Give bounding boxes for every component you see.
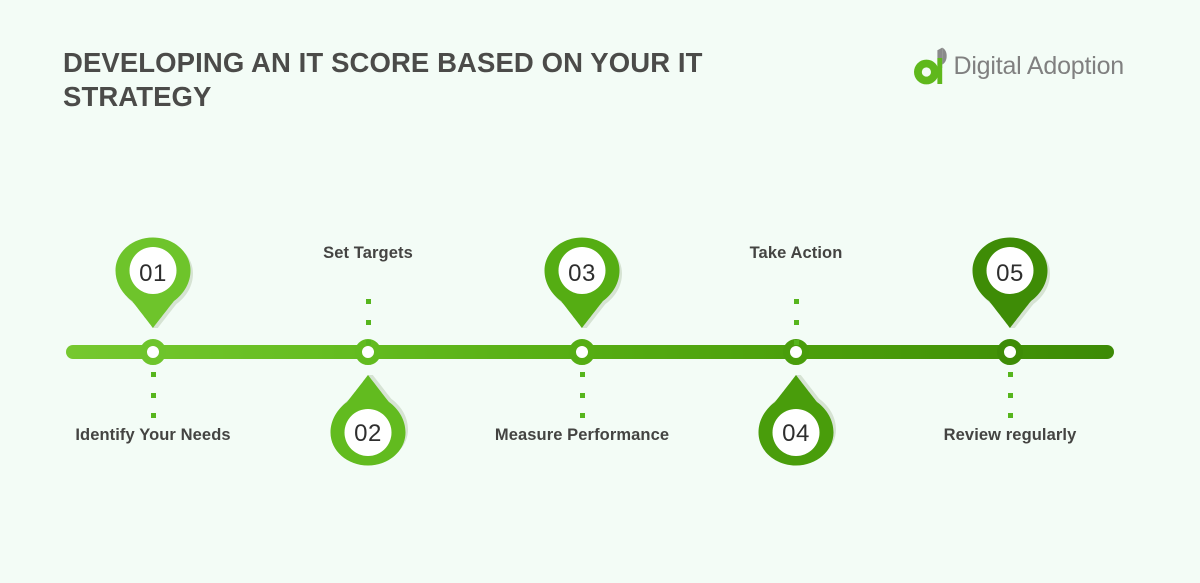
- connector-dot: [151, 372, 156, 377]
- dotted-connector-03: [580, 372, 585, 418]
- connector-dot: [794, 320, 799, 325]
- step-label-05: Review regularly: [944, 426, 1077, 445]
- step-pin-05[interactable]: 05: [969, 234, 1051, 328]
- dotted-connector-04: [794, 299, 799, 345]
- connector-dot: [1008, 372, 1013, 377]
- connector-dot: [794, 340, 799, 345]
- timeline-node-05[interactable]: [997, 339, 1023, 365]
- dotted-connector-02: [366, 299, 371, 345]
- timeline-node-03[interactable]: [569, 339, 595, 365]
- step-number-05: 05: [969, 260, 1051, 288]
- step-pin-02[interactable]: 02: [327, 375, 409, 469]
- connector-dot: [151, 413, 156, 418]
- step-pin-04[interactable]: 04: [755, 375, 837, 469]
- connector-dot: [580, 393, 585, 398]
- connector-dot: [366, 320, 371, 325]
- step-label-04: Take Action: [750, 244, 843, 263]
- step-pin-01[interactable]: 01: [112, 234, 194, 328]
- dotted-connector-05: [1008, 372, 1013, 418]
- step-pin-03[interactable]: 03: [541, 234, 623, 328]
- connector-dot: [366, 299, 371, 304]
- connector-dot: [580, 413, 585, 418]
- connector-dot: [1008, 393, 1013, 398]
- step-number-02: 02: [327, 420, 409, 448]
- timeline: 01Identify Your Needs02Set Targets03Meas…: [0, 0, 1200, 583]
- step-label-02: Set Targets: [323, 244, 413, 263]
- step-number-04: 04: [755, 420, 837, 448]
- step-label-03: Measure Performance: [495, 426, 669, 445]
- connector-dot: [580, 372, 585, 377]
- step-label-01: Identify Your Needs: [75, 426, 230, 445]
- connector-dot: [1008, 413, 1013, 418]
- step-number-01: 01: [112, 260, 194, 288]
- connector-dot: [151, 393, 156, 398]
- dotted-connector-01: [151, 372, 156, 418]
- connector-dot: [794, 299, 799, 304]
- timeline-node-01[interactable]: [140, 339, 166, 365]
- step-number-03: 03: [541, 260, 623, 288]
- connector-dot: [366, 340, 371, 345]
